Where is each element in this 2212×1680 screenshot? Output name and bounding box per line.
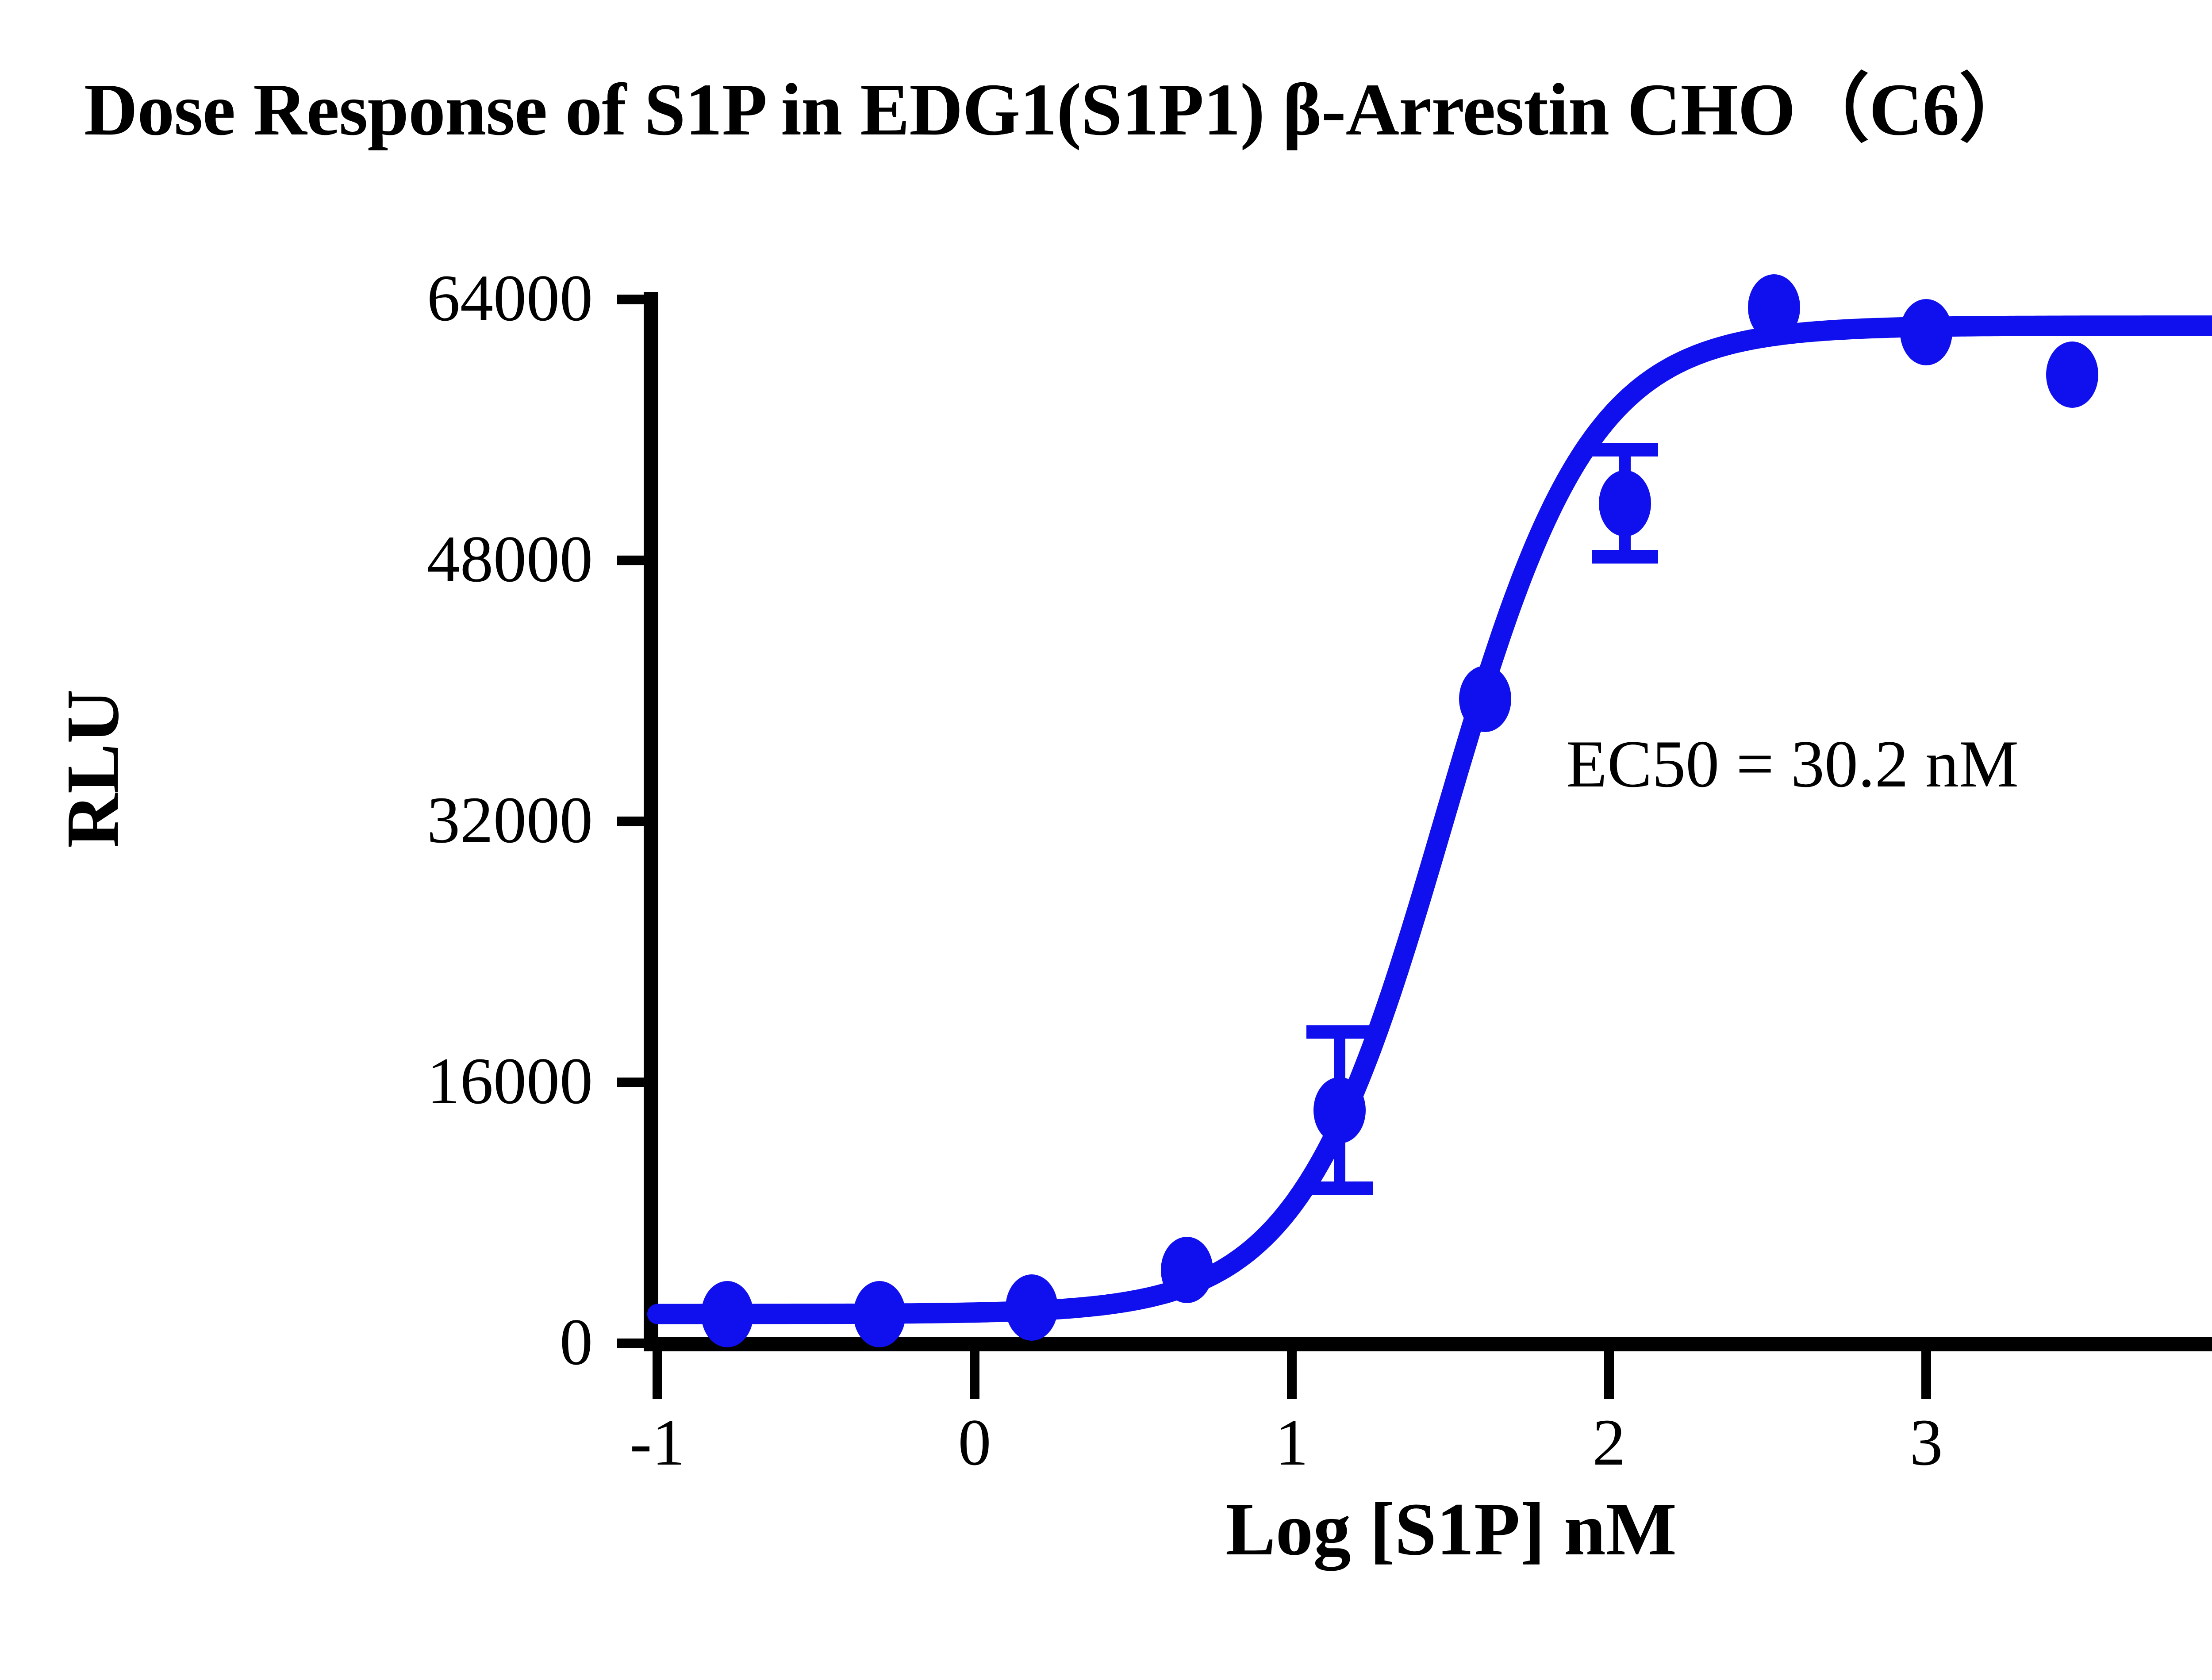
data-point-marker — [1459, 666, 1511, 732]
data-point-marker — [853, 1281, 906, 1347]
data-point-marker — [1900, 299, 1952, 365]
error-bar-cap-lower — [1592, 550, 1658, 564]
fit-curve-svg — [0, 0, 2212, 1680]
data-point-marker — [1313, 1077, 1366, 1143]
data-point-marker — [2046, 341, 2098, 408]
fit-curve-path — [657, 326, 2212, 1314]
data-point-marker — [1599, 470, 1651, 537]
data-point-marker — [1006, 1274, 1058, 1341]
data-point-marker — [701, 1281, 753, 1347]
data-point-marker — [1161, 1237, 1213, 1303]
error-bar-cap-upper — [1592, 443, 1658, 456]
data-point-marker — [1748, 274, 1800, 341]
chart-figure: Dose Response of S1P in EDG1(S1P1) β-Arr… — [0, 0, 2212, 1680]
error-bar-cap-lower — [1306, 1181, 1373, 1195]
error-bar-cap-upper — [1306, 1025, 1373, 1039]
